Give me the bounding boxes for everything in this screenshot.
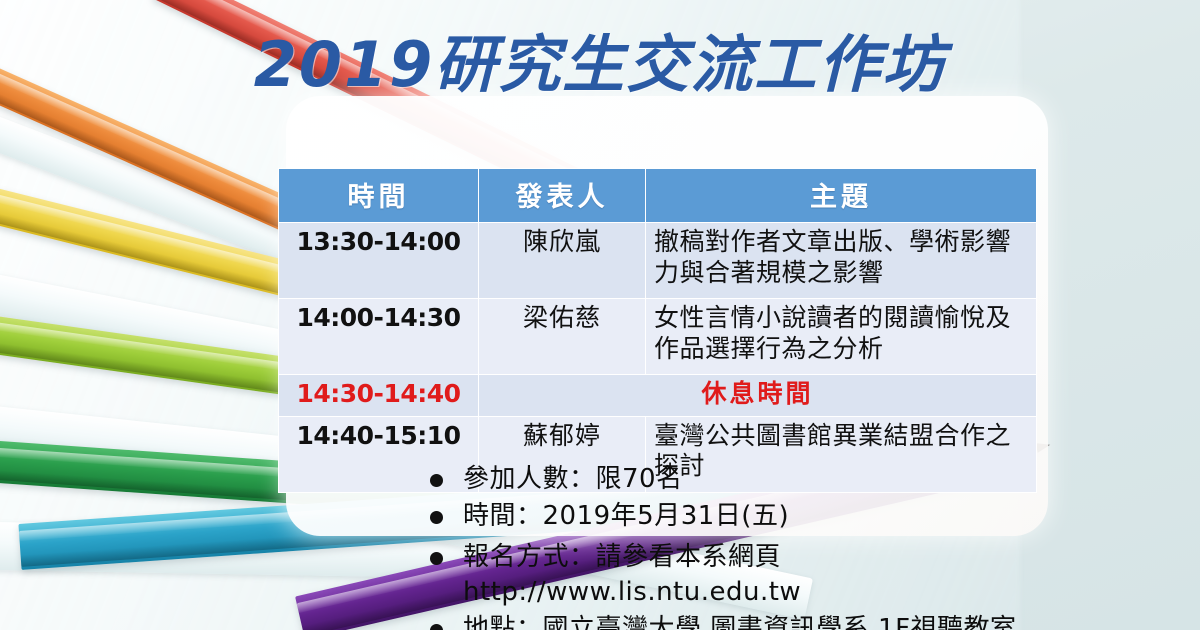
info-list-primary: 參加人數：限70名 時間：2019年5月31日(五) [430, 462, 789, 536]
table-row: 14:00-14:30 梁佑慈 女性言情小說讀者的閱讀愉悅及作品選擇行為之分析 [279, 299, 1037, 375]
cell-topic: 撤稿對作者文章出版、學術影響力與合著規模之影響 [646, 223, 1037, 299]
column-header-topic: 主題 [646, 169, 1037, 223]
info-venue: 地點：國立臺灣大學 圖書資訊學系 1F視聽教室 [463, 612, 1017, 630]
schedule-table: 時間 發表人 主題 13:30-14:00 陳欣嵐 撤稿對作者文章出版、學術影響… [278, 168, 1037, 493]
info-attendance: 參加人數：限70名 [463, 462, 683, 497]
list-item: 時間：2019年5月31日(五) [430, 499, 789, 534]
info-date: 時間：2019年5月31日(五) [463, 499, 789, 534]
page-title: 2019研究生交流工作坊 [0, 14, 1200, 104]
cell-time: 14:00-14:30 [279, 299, 479, 375]
list-item: 地點：國立臺灣大學 圖書資訊學系 1F視聽教室 [430, 612, 1017, 630]
cell-time: 13:30-14:00 [279, 223, 479, 299]
list-item: 參加人數：限70名 [430, 462, 789, 497]
table-header-row: 時間 發表人 主題 [279, 169, 1037, 223]
cell-speaker: 梁佑慈 [479, 299, 646, 375]
list-item: 報名方式：請參看本系網頁 http://www.lis.ntu.edu.tw [430, 540, 1017, 610]
cell-break-label: 休息時間 [479, 375, 1037, 417]
column-header-time: 時間 [279, 169, 479, 223]
bullet-icon [430, 474, 443, 487]
poster-canvas: 2019研究生交流工作坊 時間 發表人 主題 13:30-14:00 陳欣嵐 撤… [0, 0, 1200, 630]
bullet-icon [430, 511, 443, 524]
table-row-break: 14:30-14:40 休息時間 [279, 375, 1037, 417]
cell-topic: 女性言情小說讀者的閱讀愉悅及作品選擇行為之分析 [646, 299, 1037, 375]
bullet-icon [430, 624, 443, 630]
info-registration: 報名方式：請參看本系網頁 http://www.lis.ntu.edu.tw [463, 540, 801, 610]
cell-speaker: 陳欣嵐 [479, 223, 646, 299]
cell-time: 14:30-14:40 [279, 375, 479, 417]
table-row: 13:30-14:00 陳欣嵐 撤稿對作者文章出版、學術影響力與合著規模之影響 [279, 223, 1037, 299]
bullet-icon [430, 552, 443, 565]
info-list-secondary: 報名方式：請參看本系網頁 http://www.lis.ntu.edu.tw 地… [430, 540, 1017, 630]
column-header-speaker: 發表人 [479, 169, 646, 223]
